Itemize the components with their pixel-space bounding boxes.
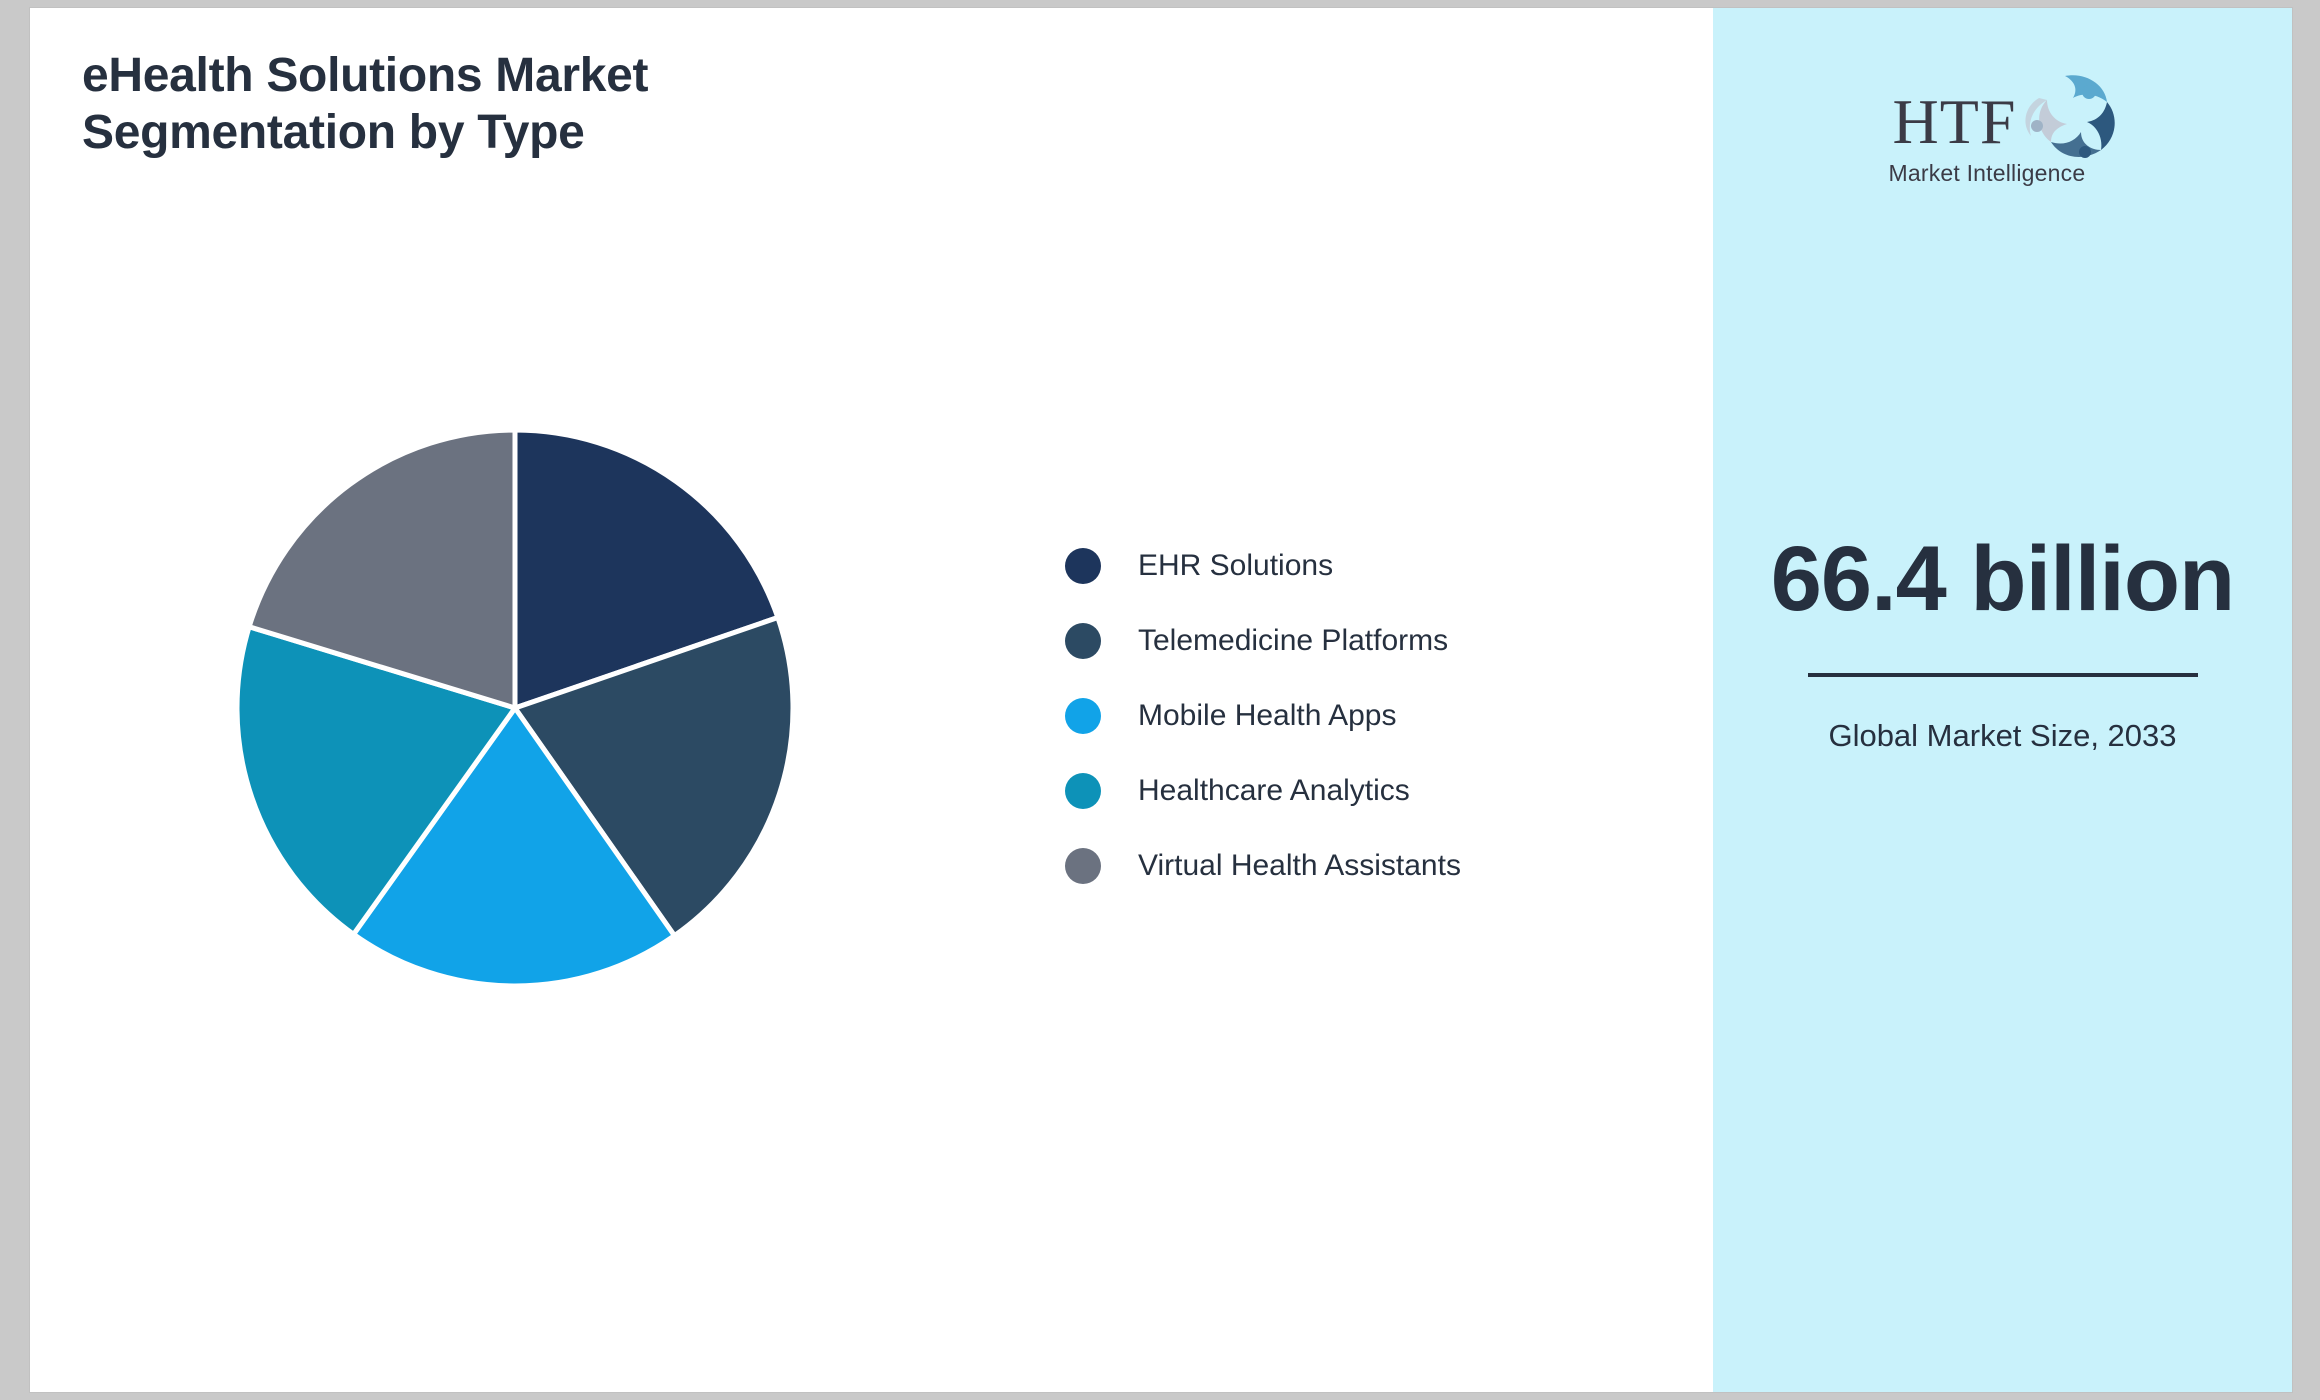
legend-swatch-icon	[1065, 623, 1101, 659]
brand-logo: HTF Market Intelligence	[1873, 70, 2133, 190]
chart-panel: eHealth Solutions Market Segmentation by…	[30, 8, 1713, 1392]
legend-item-ehr-solutions[interactable]: EHR Solutions	[1065, 528, 1585, 603]
chart-legend: EHR Solutions Telemedicine Platforms Mob…	[1065, 528, 1585, 903]
legend-item-label: Healthcare Analytics	[1138, 774, 1410, 808]
legend-swatch-icon	[1065, 773, 1101, 809]
legend-item-label: Telemedicine Platforms	[1138, 624, 1448, 658]
legend-swatch-icon	[1065, 548, 1101, 584]
legend-item-label: Virtual Health Assistants	[1138, 849, 1461, 883]
kpi-panel: HTF Market Intelligence 66.4 billion Glo…	[1713, 8, 2292, 1392]
infographic-canvas: eHealth Solutions Market Segmentation by…	[30, 8, 2292, 1392]
kpi-block: 66.4 billion Global Market Size, 2033	[1713, 528, 2292, 757]
legend-swatch-icon	[1065, 848, 1101, 884]
brand-logo-text: HTF	[1893, 90, 2017, 154]
kpi-caption: Global Market Size, 2033	[1713, 715, 2292, 757]
legend-item-virtual-health-assistants[interactable]: Virtual Health Assistants	[1065, 828, 1585, 903]
pie-slice-group	[237, 430, 793, 986]
pie-chart-svg	[215, 408, 815, 1008]
three-dolphin-circle-emblem-icon	[2007, 70, 2127, 170]
legend-item-mobile-health-apps[interactable]: Mobile Health Apps	[1065, 678, 1585, 753]
legend-swatch-icon	[1065, 698, 1101, 734]
brand-logo-tagline: Market Intelligence	[1889, 160, 2086, 187]
kpi-divider	[1808, 673, 2198, 677]
legend-item-telemedicine-platforms[interactable]: Telemedicine Platforms	[1065, 603, 1585, 678]
kpi-value: 66.4 billion	[1713, 528, 2292, 631]
legend-item-label: EHR Solutions	[1138, 549, 1333, 583]
legend-item-label: Mobile Health Apps	[1138, 699, 1397, 733]
pie-chart	[215, 408, 815, 1008]
page-title: eHealth Solutions Market Segmentation by…	[82, 48, 922, 161]
legend-item-healthcare-analytics[interactable]: Healthcare Analytics	[1065, 753, 1585, 828]
